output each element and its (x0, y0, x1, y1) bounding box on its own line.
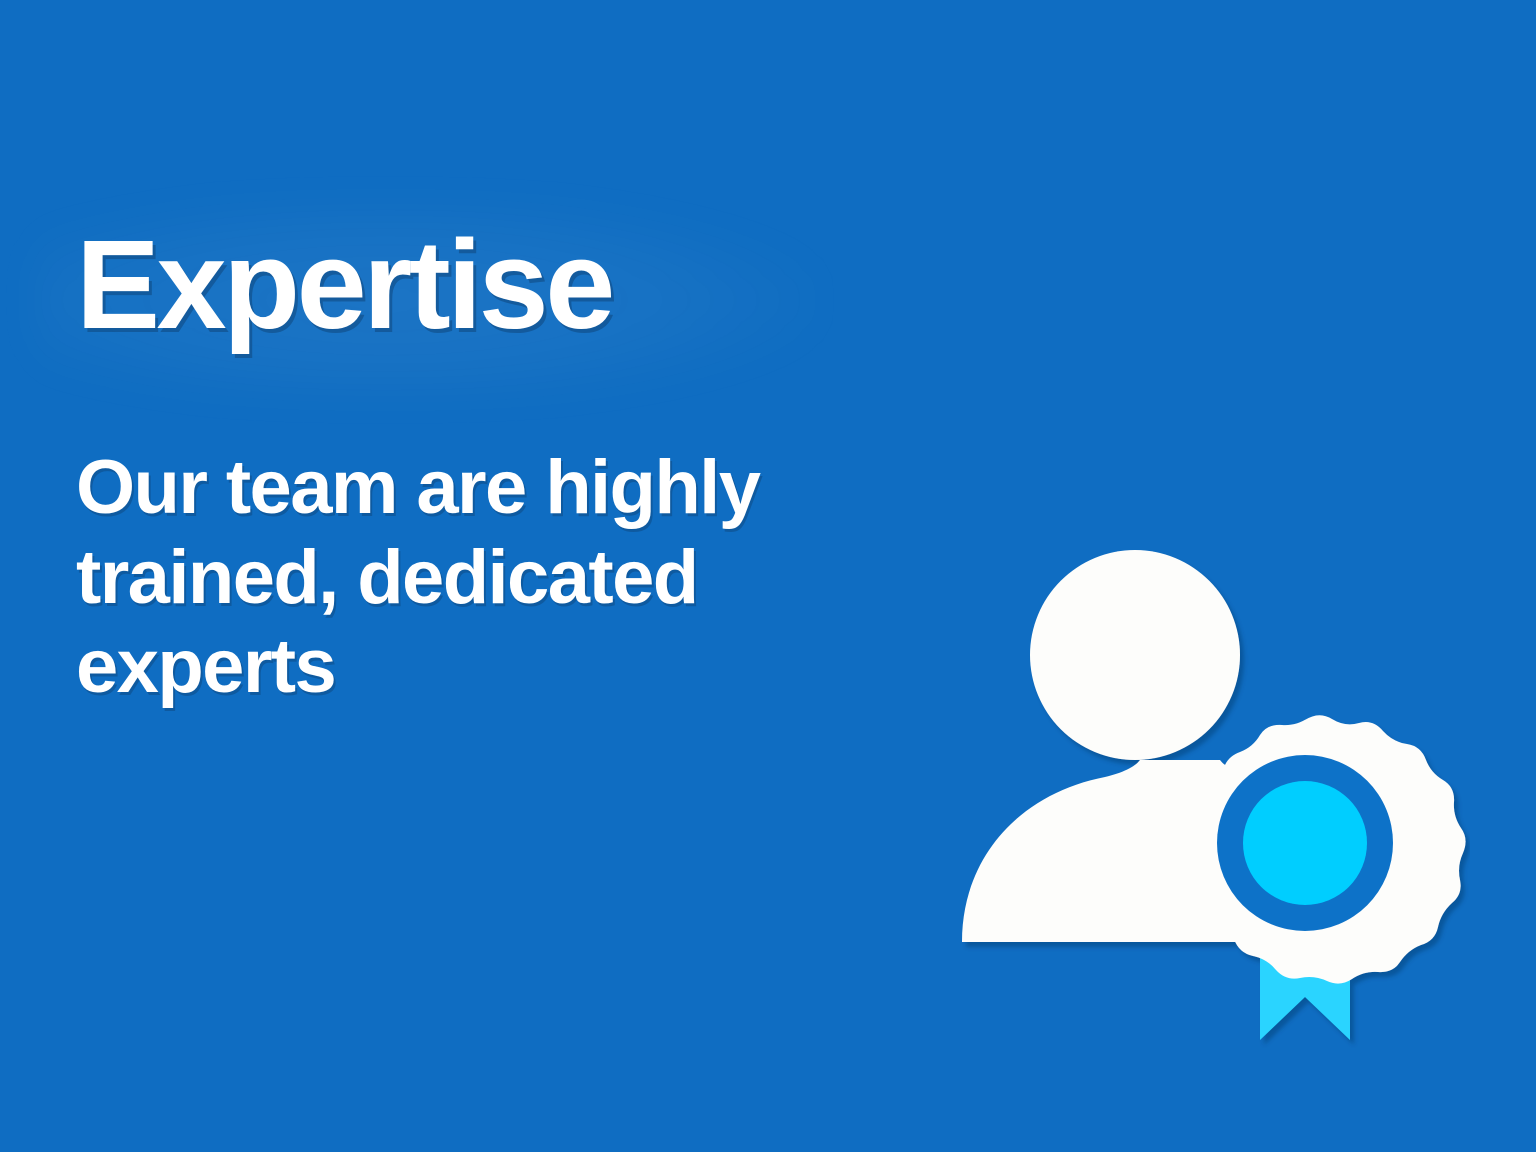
subtitle-line-1: Our team are highly (76, 443, 916, 533)
page-title: Expertise (76, 222, 612, 348)
subtitle-line-2: trained, dedicated (76, 533, 916, 623)
person-head-circle (1030, 550, 1240, 760)
rosette-center-circle (1243, 781, 1367, 905)
subtitle: Our team are highly trained, dedicated e… (76, 443, 916, 712)
certified-person-icon (930, 505, 1470, 1065)
subtitle-line-3: experts (76, 622, 916, 712)
slide-canvas: Expertise Our team are highly trained, d… (0, 0, 1536, 1152)
